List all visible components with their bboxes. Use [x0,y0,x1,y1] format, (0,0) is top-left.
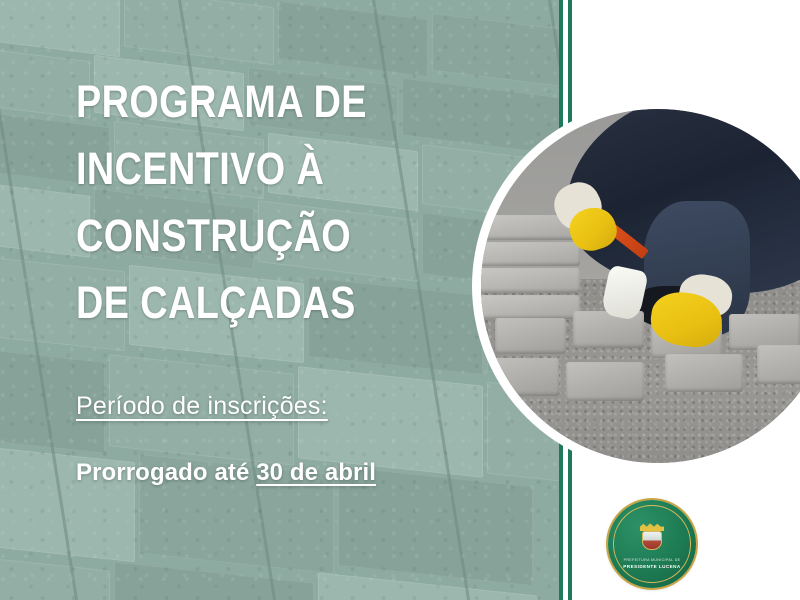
municipal-seal-logo: Prefeitura Municipal de Presidente Lucen… [608,500,696,588]
laid-paver-field [481,307,800,413]
crown-icon [640,523,664,531]
deadline-text: Prorrogado até 30 de abril [76,459,376,487]
subscription-period-label: Período de inscrições: [76,392,376,421]
shield-icon [642,531,662,550]
headline-line-3: CONSTRUÇÃO [76,202,437,269]
subscription-block: Período de inscrições: Prorrogado até 30… [76,392,376,487]
headline-line-1: PROGRAMA DE [76,68,437,135]
paver-block-stack [481,215,580,321]
worker-photo [481,109,800,463]
headline-line-2: INCENTIVO À [76,135,437,202]
coat-of-arms-icon [637,523,667,553]
headline-line-4: DE CALÇADAS [76,269,437,336]
deadline-prefix: Prorrogado até [76,459,256,486]
page-title: PROGRAMA DE INCENTIVO À CONSTRUÇÃO DE CA… [76,68,437,336]
worker-photo-circle [472,100,800,472]
poster-canvas: PROGRAMA DE INCENTIVO À CONSTRUÇÃO DE CA… [0,0,800,600]
deadline-date: 30 de abril [256,459,376,486]
